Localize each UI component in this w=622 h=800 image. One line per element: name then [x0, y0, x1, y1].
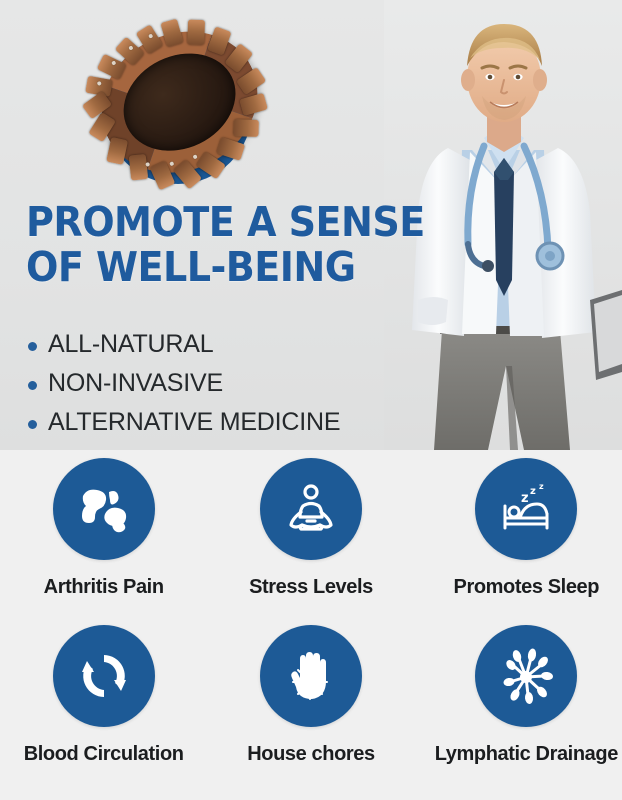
hero-section: PROMOTE A SENSE OF WELL-BEING ALL-NATURA…	[0, 0, 622, 450]
meditation-icon	[260, 458, 362, 560]
bed-sleep-icon: z z z	[475, 458, 577, 560]
benefit-lymphatic-drainage: Lymphatic Drainage	[423, 625, 622, 795]
headline-line-2: OF WELL-BEING	[26, 245, 379, 290]
benefit-promotes-sleep: z z z Promotes Sleep	[423, 458, 622, 628]
benefit-label: House chores	[247, 743, 374, 766]
page-title: PROMOTE A SENSE OF WELL-BEING	[26, 200, 406, 290]
benefit-label: Arthritis Pain	[44, 576, 164, 599]
benefits-row-bottom: Blood Circulation	[0, 625, 622, 795]
product-badge	[86, 24, 276, 184]
svg-text:z: z	[539, 482, 544, 491]
benefits-row-top: Arthritis Pain Stress	[0, 458, 622, 628]
benefit-label: Stress Levels	[249, 576, 373, 599]
benefit-arthritis-pain: Arthritis Pain	[0, 458, 207, 628]
svg-text:z: z	[521, 491, 529, 506]
benefit-label: Lymphatic Drainage	[435, 743, 618, 766]
joint-bones-icon	[53, 458, 155, 560]
list-item: ALL-NATURAL	[26, 330, 426, 359]
copper-magnetic-bracelet	[66, 0, 293, 213]
hand-energy-icon	[260, 625, 362, 727]
lymph-nodes-icon	[475, 625, 577, 727]
svg-text:z: z	[530, 486, 536, 497]
headline-line-1: PROMOTE A SENSE	[26, 200, 379, 245]
benefit-stress-levels: Stress Levels	[207, 458, 414, 628]
benefit-blood-circulation: Blood Circulation	[0, 625, 207, 795]
list-item: NON-INVASIVE	[26, 369, 426, 398]
circular-arrows-icon	[53, 625, 155, 727]
benefit-house-chores: House chores	[207, 625, 414, 795]
feature-list: ALL-NATURAL NON-INVASIVE ALTERNATIVE MED…	[26, 330, 426, 447]
list-item: ALTERNATIVE MEDICINE	[26, 408, 426, 437]
benefit-label: Promotes Sleep	[454, 576, 600, 599]
benefit-label: Blood Circulation	[24, 743, 184, 766]
product-infographic: PROMOTE A SENSE OF WELL-BEING ALL-NATURA…	[0, 0, 622, 800]
benefits-section: Arthritis Pain Stress	[0, 450, 622, 800]
